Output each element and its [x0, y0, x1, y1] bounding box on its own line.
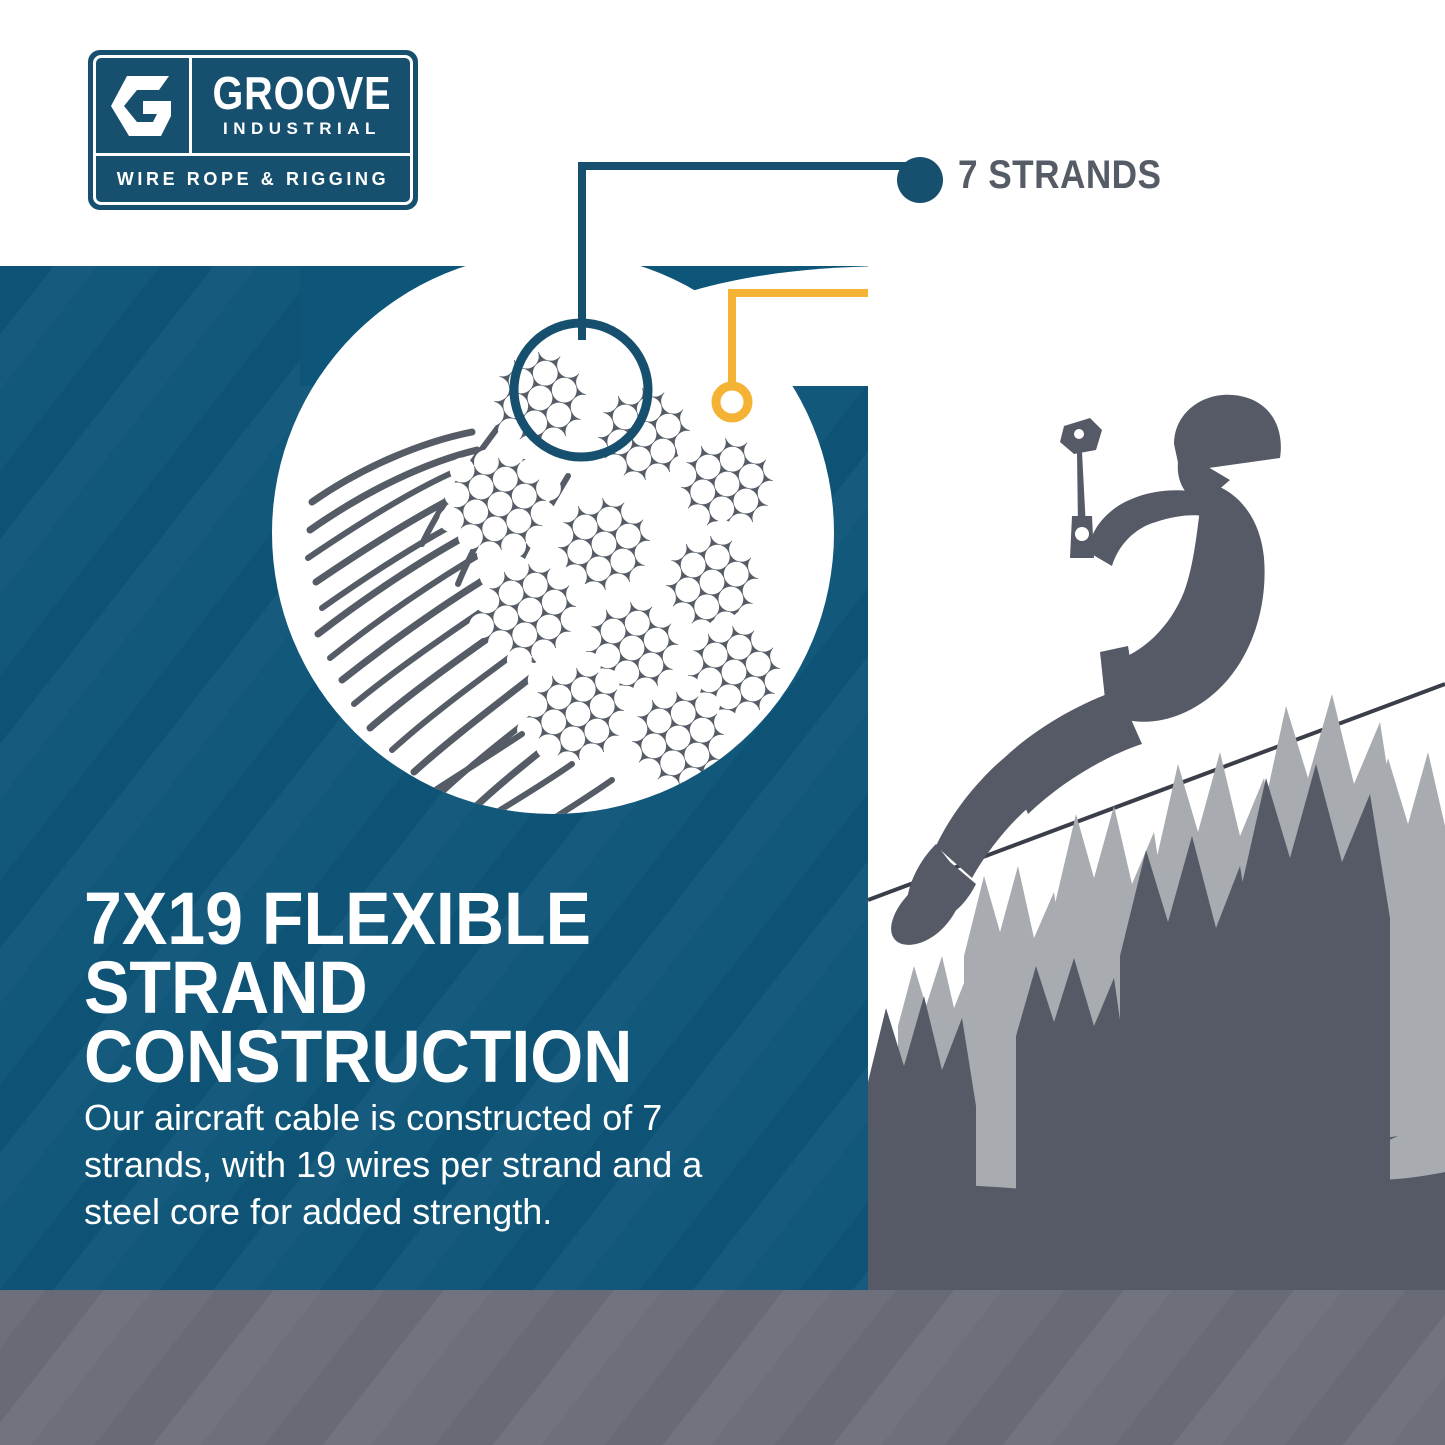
callout-item-7-strands: 7 STRANDS: [958, 153, 1189, 198]
bottom-bar-stripe-pattern: [0, 1290, 1445, 1445]
logo-top-row: GROOVE INDUSTRIAL: [96, 58, 410, 153]
logo-brand-name: GROOVE: [213, 72, 392, 114]
logo-wordmark: GROOVE INDUSTRIAL: [192, 72, 412, 138]
infographic-canvas: GROOVE INDUSTRIAL WIRE ROPE & RIGGING: [0, 0, 1445, 1445]
logo-tagline: WIRE ROPE & RIGGING: [117, 169, 389, 190]
callout-dot-navy: [890, 150, 960, 210]
zipline-photo-scene: [868, 266, 1445, 1290]
brand-logo: GROOVE INDUSTRIAL WIRE ROPE & RIGGING: [88, 50, 418, 210]
page-title: 7X19 FLEXIBLE STRAND CONSTRUCTION: [84, 885, 783, 1091]
groove-g-monogram-icon: [96, 58, 192, 153]
navy-leader-line: [582, 166, 908, 340]
body-description: Our aircraft cable is constructed of 7 s…: [84, 1095, 744, 1235]
zipline-scene-art: [868, 266, 1445, 1290]
headline-line-2: STRAND CONSTRUCTION: [84, 954, 783, 1092]
logo-tagline-row: WIRE ROPE & RIGGING: [96, 153, 410, 202]
amber-ring-marker: [716, 386, 748, 418]
logo-inner-frame: GROOVE INDUSTRIAL WIRE ROPE & RIGGING: [93, 55, 413, 205]
callout-label-text: 7 STRANDS: [958, 153, 1161, 198]
logo-brand-subtitle: INDUSTRIAL: [223, 119, 381, 139]
bottom-accent-bar: [0, 1290, 1445, 1445]
